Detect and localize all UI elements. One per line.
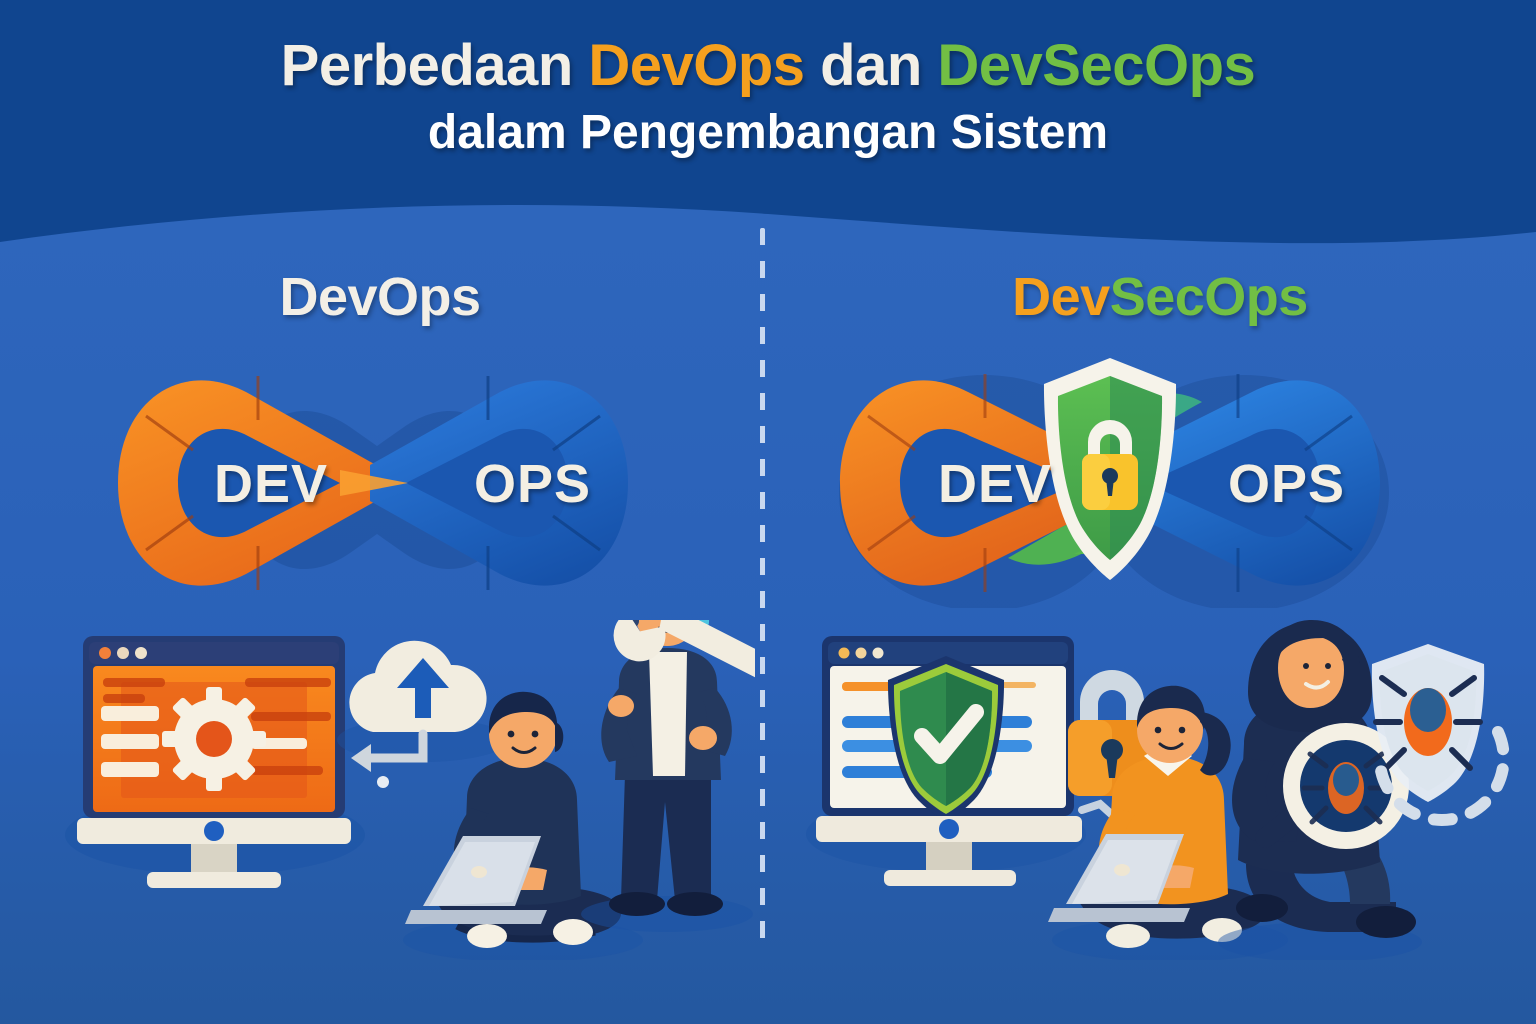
devops-infinity-loop: DEV OPS xyxy=(108,358,638,613)
title-word-devsecops: DevSecOps xyxy=(937,33,1255,98)
infographic-canvas: Perbedaan DevOps dan DevSecOps dalam Pen… xyxy=(0,0,1536,1024)
title-word-dan: dan xyxy=(805,33,938,98)
panel-heading-secops: SecOps xyxy=(1110,267,1308,327)
panel-heading-devsecops: DevSecOps xyxy=(810,266,1510,328)
panel-divider xyxy=(760,228,765,940)
ops-engineer-with-wrench xyxy=(581,620,755,932)
title-block: Perbedaan DevOps dan DevSecOps dalam Pen… xyxy=(0,34,1536,160)
cloud-upload-icon xyxy=(337,641,509,788)
devsecops-scene xyxy=(800,620,1536,965)
devops-loop-ops-label: OPS xyxy=(474,453,591,515)
panel-heading-dev: Dev xyxy=(1012,267,1110,327)
monitor-shield-check-icon xyxy=(806,636,1086,886)
devops-loop-dev-label: DEV xyxy=(214,453,328,515)
title-line-1: Perbedaan DevOps dan DevSecOps xyxy=(0,34,1536,99)
title-line-2: dalam Pengembangan Sistem xyxy=(0,105,1536,160)
devsecops-infinity-loop: DEV OPS xyxy=(830,358,1390,613)
devops-scene xyxy=(55,620,755,965)
devsecops-loop-ops-label: OPS xyxy=(1228,453,1345,515)
devsecops-loop-dev-label: DEV xyxy=(938,453,1052,515)
title-word-devops: DevOps xyxy=(588,33,804,98)
title-word-perbedaan: Perbedaan xyxy=(281,33,589,98)
panel-heading-devops: DevOps xyxy=(30,266,730,328)
